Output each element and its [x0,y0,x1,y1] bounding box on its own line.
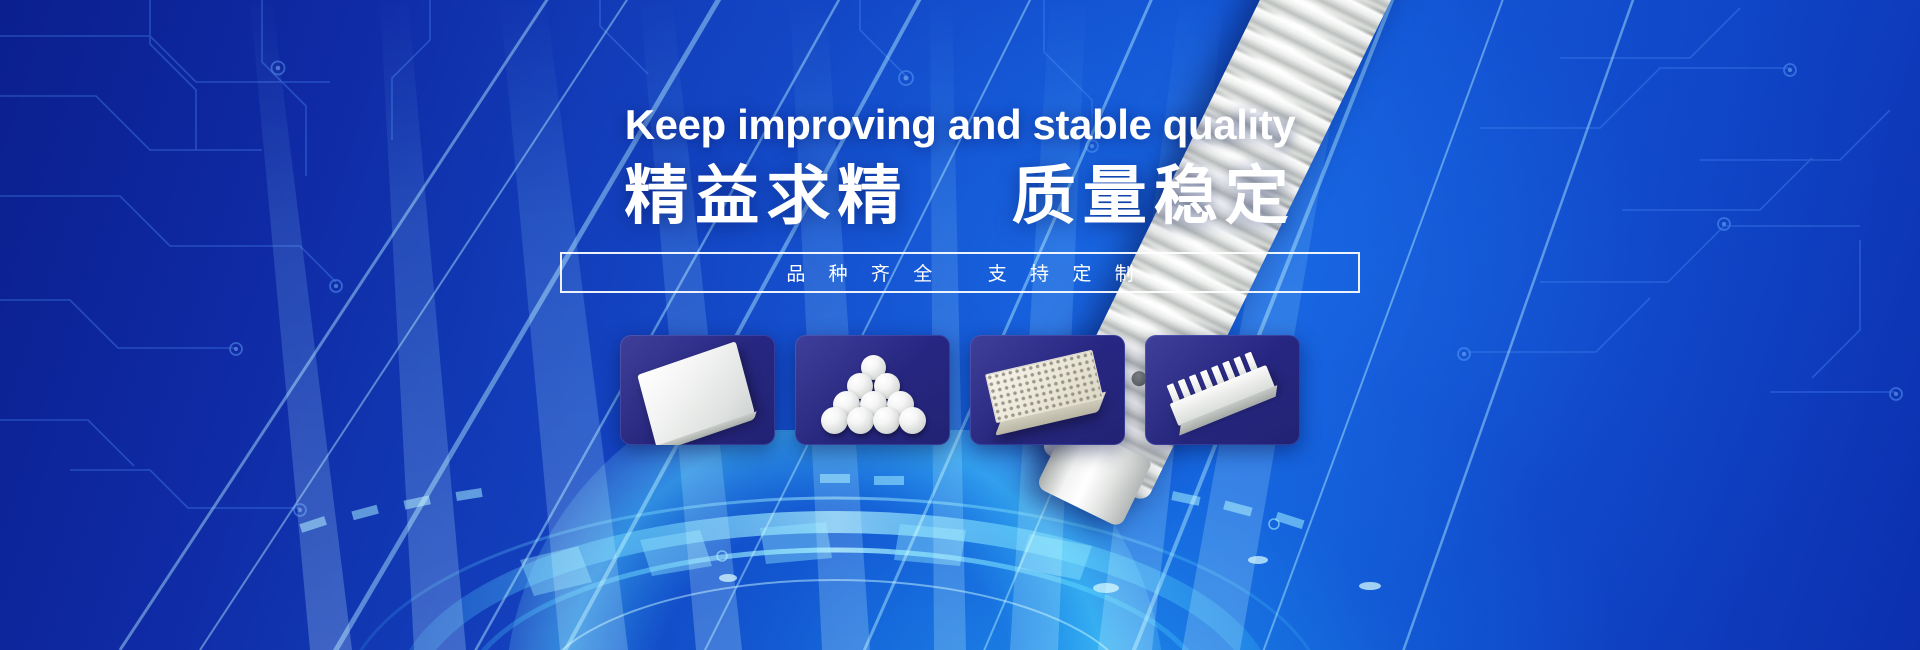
hero-banner: Keep improving and stable quality 精益求精 质… [0,0,1920,650]
chinese-headline-left: 精益求精 [624,160,908,232]
product-card-honeycomb-plate[interactable] [970,335,1125,445]
chinese-headline-right: 质量稳定 [1012,160,1296,232]
card-gloss [970,335,1125,445]
subtitle-right: 支 持 定 制 [988,264,1143,285]
subtitle-left: 品 种 齐 全 [786,264,941,285]
product-card-ceramic-tile[interactable] [620,335,775,445]
card-gloss [795,335,950,445]
product-card-ceramic-balls[interactable] [795,335,950,445]
product-card-row [620,335,1300,445]
banner-content: Keep improving and stable quality 精益求精 质… [0,0,1920,650]
product-card-comb-strip[interactable] [1145,335,1300,445]
card-gloss [620,335,775,445]
subtitle-text: 品 种 齐 全 支 持 定 制 [777,259,1142,286]
subtitle-box: 品 种 齐 全 支 持 定 制 [560,252,1360,293]
english-headline: Keep improving and stable quality [625,104,1296,146]
card-gloss [1145,335,1300,445]
chinese-headline: 精益求精 质量稳定 [624,160,1296,233]
